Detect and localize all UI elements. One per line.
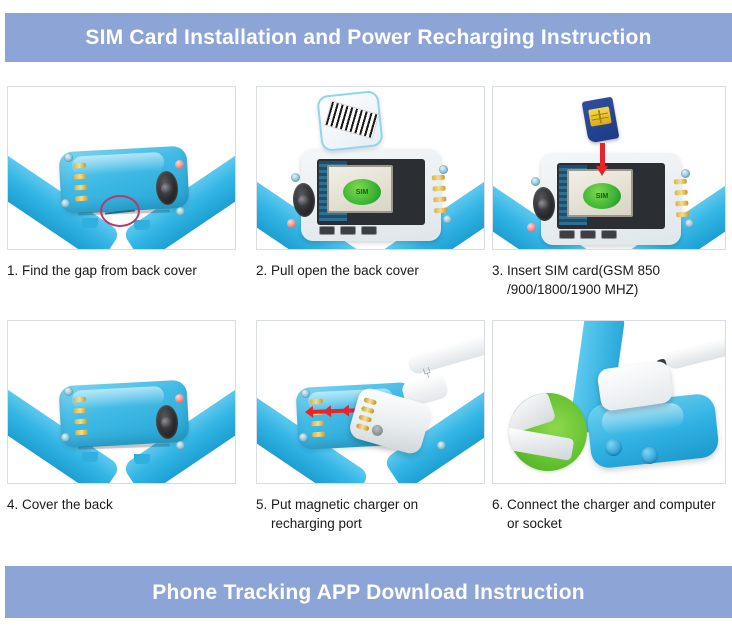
case-screw-icon (176, 441, 185, 450)
watch-open-case: SIM (541, 153, 681, 245)
barcode-sticker-icon (324, 100, 379, 139)
case-screw-red-icon (287, 219, 296, 228)
port-strip (319, 224, 423, 237)
step-caption-2: 2. Pull open the back cover (256, 261, 485, 280)
watch-side-button[interactable] (641, 447, 658, 464)
step-image-2: SIM (256, 86, 485, 250)
step-image-3: SIM (492, 86, 726, 250)
case-screw-icon (64, 153, 73, 162)
step-image-4 (7, 320, 236, 484)
case-screw-icon (176, 207, 185, 216)
case-screw-icon (685, 219, 694, 228)
sim-card (582, 97, 620, 144)
footer-banner: Phone Tracking APP Download Instruction (5, 566, 732, 618)
step-caption-6: 6. Connect the charger and computer or s… (492, 495, 726, 533)
case-screw-icon (291, 173, 300, 182)
green-sticker-label: SIM (343, 179, 381, 205)
watch-side-button[interactable] (605, 439, 622, 456)
charger-screw-hole (371, 424, 385, 438)
steps-row-2: 4. Cover the back (7, 320, 726, 552)
header-banner: SIM Card Installation and Power Rechargi… (5, 13, 732, 62)
step-card-2: SIM 2. Pul (256, 86, 485, 280)
case-screw-icon (61, 433, 70, 442)
case-screw-icon (437, 441, 446, 450)
case-screw-icon (299, 433, 308, 442)
gap-highlight-ellipse (100, 195, 140, 227)
case-screw-icon (681, 169, 690, 178)
charging-pins (432, 175, 448, 214)
charger-cable (664, 334, 726, 370)
charging-pins (674, 179, 690, 218)
step-image-1 (7, 86, 236, 250)
case-screw-red-icon (175, 394, 184, 403)
step-card-1: 1. Find the gap from back cover (7, 86, 236, 280)
detail-inset-circle (509, 393, 587, 471)
charging-pins (73, 163, 89, 202)
step-caption-3: 3. Insert SIM card(GSM 850 /900/1800/190… (492, 261, 726, 299)
sim-chip-icon (588, 106, 612, 126)
steps-grid: 1. Find the gap from back cover SIM (7, 86, 726, 551)
charging-pins (73, 397, 89, 436)
case-screw-icon (61, 199, 70, 208)
step-card-6: 6. Connect the charger and computer or s… (492, 320, 726, 533)
green-sticker-label: SIM (583, 183, 621, 209)
step-image-6 (492, 320, 726, 484)
step-image-5: ⑂ (256, 320, 485, 484)
case-screw-icon (439, 165, 448, 174)
charging-pins (310, 399, 326, 438)
green-sticker-icon: SIM (343, 179, 381, 205)
band-lug (82, 218, 98, 228)
step-caption-5: 5. Put magnetic charger on recharging po… (256, 495, 485, 533)
step-card-3: SIM (492, 86, 726, 299)
case-screw-icon (531, 177, 540, 186)
step-card-5: ⑂ 5. Put magnetic charger on recharging … (256, 320, 485, 533)
step-card-4: 4. Cover the back (7, 320, 236, 514)
step-caption-1: 1. Find the gap from back cover (7, 261, 236, 280)
green-sticker-icon: SIM (583, 183, 621, 209)
case-screw-red-icon (175, 160, 184, 169)
case-screw-icon (64, 387, 73, 396)
watch-open-case: SIM (301, 149, 441, 241)
insert-direction-arrow-icon (600, 143, 605, 167)
steps-row-1: 1. Find the gap from back cover SIM (7, 86, 726, 318)
band-lug (82, 452, 98, 462)
port-strip (559, 228, 663, 241)
case-screw-icon (301, 389, 310, 398)
case-screw-icon (443, 215, 452, 224)
case-screw-red-icon (527, 223, 536, 232)
step-caption-4: 4. Cover the back (7, 495, 236, 514)
charger-cable (406, 330, 485, 376)
header-banner-title: SIM Card Installation and Power Rechargi… (85, 27, 651, 48)
instruction-sheet: SIM Card Installation and Power Rechargi… (0, 0, 732, 627)
band-lug (134, 220, 150, 230)
detached-back-cover (316, 90, 384, 152)
footer-banner-title: Phone Tracking APP Download Instruction (152, 582, 585, 603)
band-lug (134, 454, 150, 464)
